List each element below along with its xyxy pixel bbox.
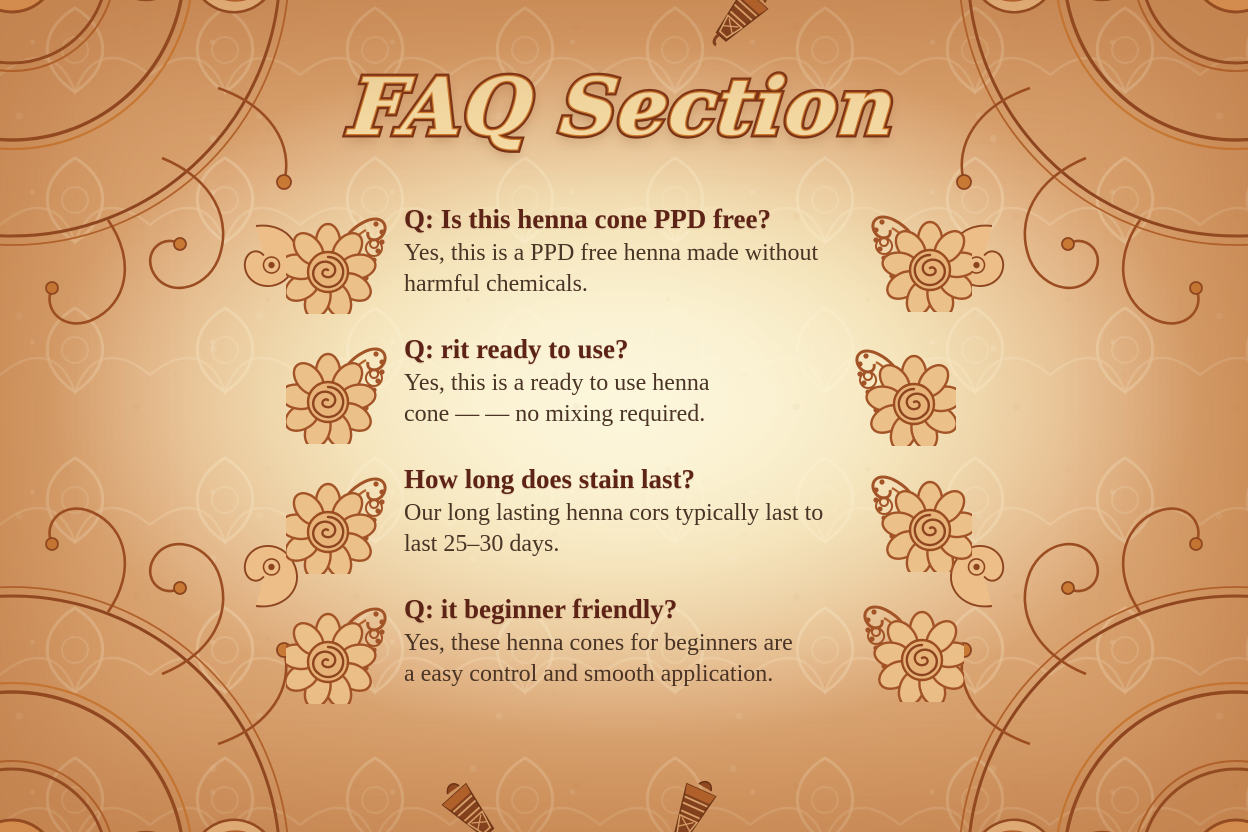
faq-body: Q: it beginner friendly? Yes, these henn… [404, 594, 924, 690]
faq-answer: Our long lasting henna cors typically la… [404, 498, 924, 559]
henna-cone-icon-bottom-right [648, 770, 734, 832]
faq-answer: Yes, these henna cones for beginners are… [404, 628, 924, 689]
faq-list: Q: Is this henna cone PPD free? Yes, thi… [286, 204, 966, 724]
paisley-flower-icon-left [286, 206, 394, 314]
faq-item: Q: it beginner friendly? Yes, these henn… [286, 594, 966, 706]
faq-item: How long does stain last? Our long lasti… [286, 464, 966, 576]
faq-question: Q: it beginner friendly? [404, 594, 924, 624]
faq-item: Q: rit ready to use? Yes, this is a read… [286, 334, 966, 446]
faq-question: Q: rit ready to use? [404, 334, 924, 364]
henna-cone-icon-bottom-left [427, 769, 515, 832]
faq-body: How long does stain last? Our long lasti… [404, 464, 924, 560]
faq-answer: Yes, this is a ready to use henna cone —… [404, 368, 924, 429]
paisley-flower-icon-left [286, 336, 394, 444]
faq-question: Q: Is this henna cone PPD free? [404, 204, 924, 234]
paisley-flower-icon-left [286, 596, 394, 704]
faq-item: Q: Is this henna cone PPD free? Yes, thi… [286, 204, 966, 316]
faq-body: Q: rit ready to use? Yes, this is a read… [404, 334, 924, 430]
paisley-flower-icon-left [286, 466, 394, 574]
faq-question: How long does stain last? [404, 464, 924, 494]
faq-body: Q: Is this henna cone PPD free? Yes, thi… [404, 204, 924, 300]
faq-answer: Yes, this is a PPD free henna made witho… [404, 238, 924, 299]
faq-poster: FAQ Section FAQ Section Q: Is this henna… [0, 0, 1248, 832]
